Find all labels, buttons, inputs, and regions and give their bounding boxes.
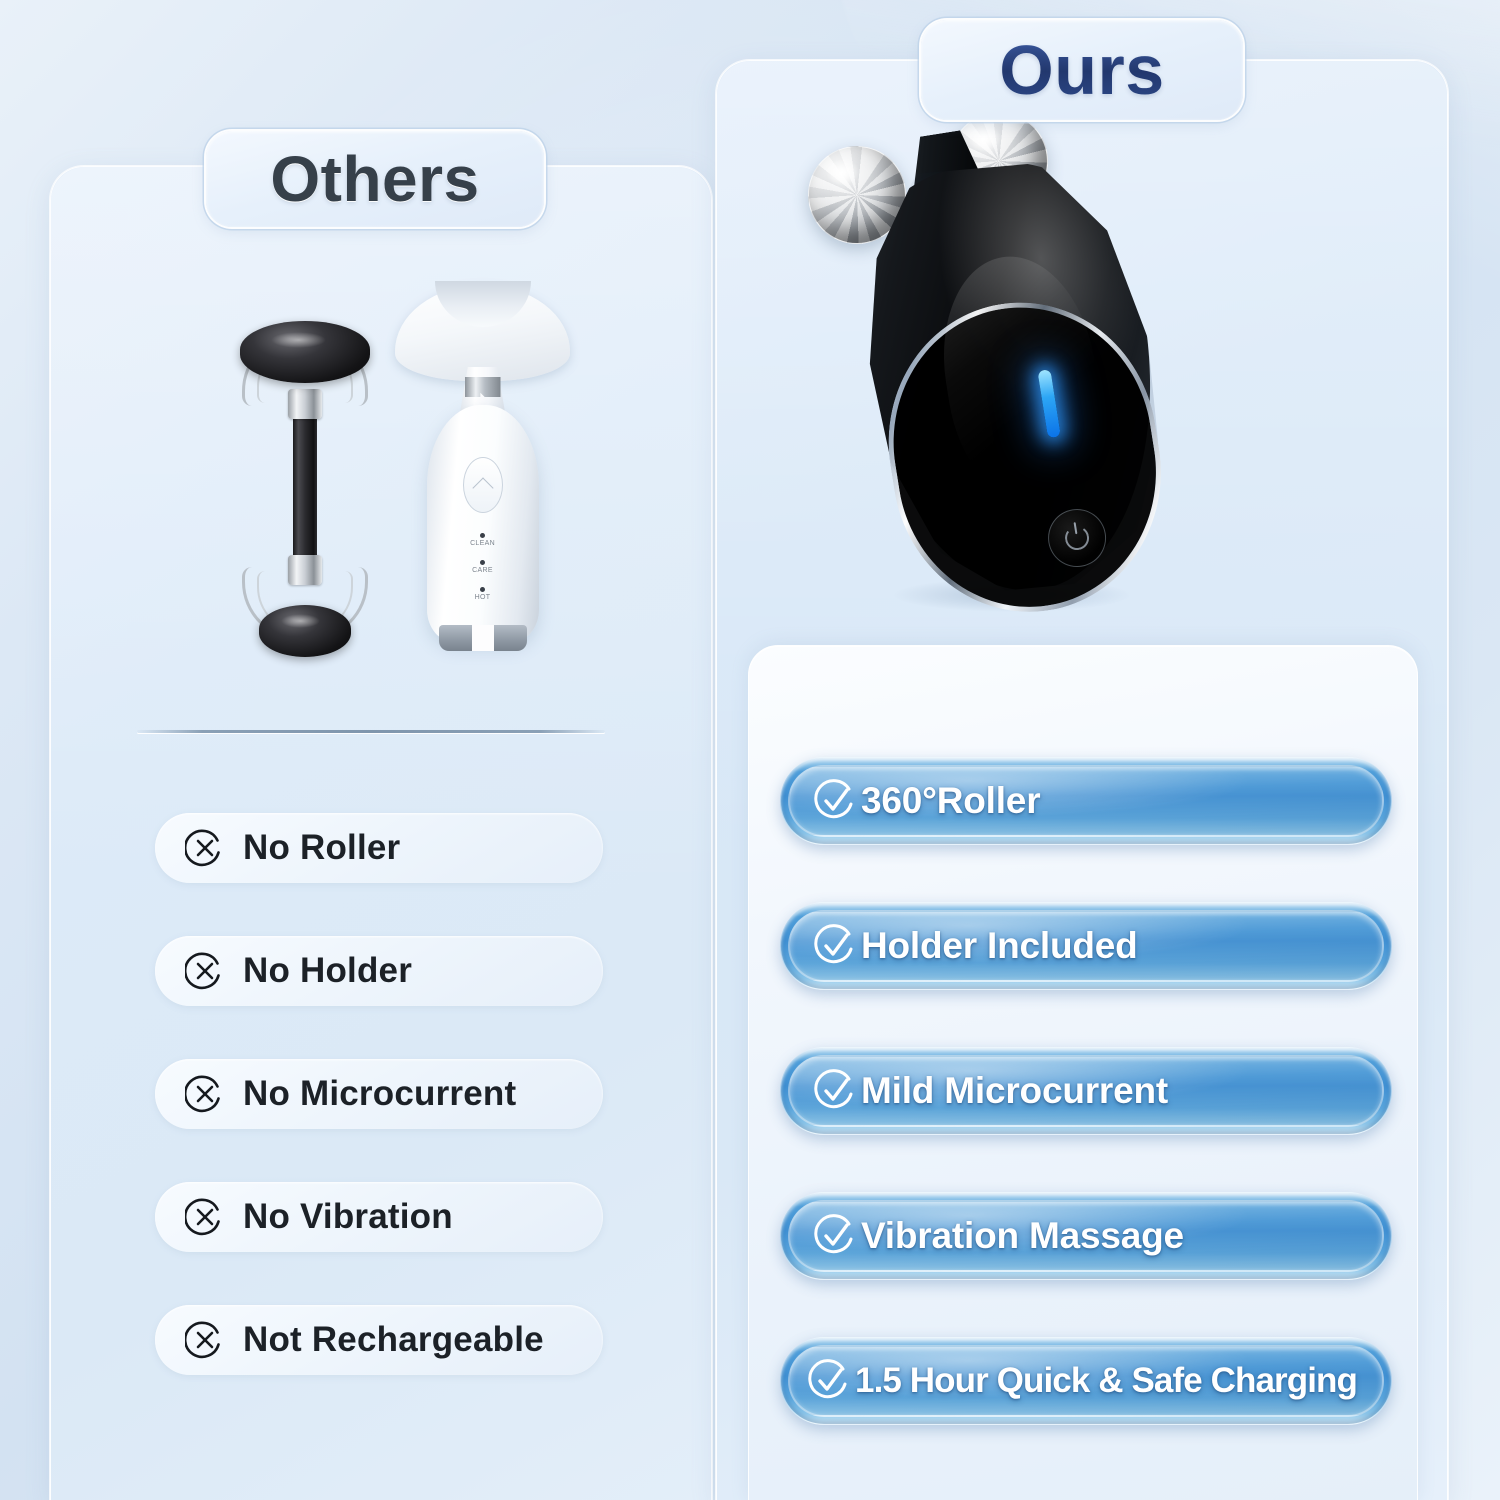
others-title: Others xyxy=(270,147,479,211)
roller-stone-highlight xyxy=(271,332,326,348)
ours-feature-label: 360°Roller xyxy=(861,780,1040,822)
others-divider xyxy=(137,730,605,733)
others-feature-item: Not Rechargeable xyxy=(155,1305,603,1375)
neck-device-head xyxy=(395,285,570,381)
mode-label: CARE xyxy=(472,567,493,574)
roller-stone-highlight-small xyxy=(281,614,320,628)
device-body xyxy=(830,142,1184,612)
others-feature-label: Not Rechargeable xyxy=(243,1320,544,1360)
roller-ferrule-top xyxy=(288,389,322,419)
mode-dot-icon xyxy=(480,587,485,592)
others-feature-label: No Microcurrent xyxy=(243,1074,516,1114)
roller-stone-large xyxy=(240,321,370,383)
x-circle-icon xyxy=(185,828,225,868)
power-icon xyxy=(1063,524,1090,551)
jade-roller-image xyxy=(225,305,385,655)
neck-device-mode: CARE xyxy=(454,560,512,574)
ours-product-image xyxy=(800,110,1280,650)
pill-content: 1.5 Hour Quick & Safe Charging xyxy=(787,1359,1357,1403)
ours-feature-label: 1.5 Hour Quick & Safe Charging xyxy=(855,1361,1357,1401)
mode-label: CLEAN xyxy=(470,540,495,547)
others-feature-item: No Holder xyxy=(155,936,603,1006)
mode-dot-icon xyxy=(480,560,485,565)
others-feature-label: No Holder xyxy=(243,951,412,991)
ours-feature-list: 360°Roller Holder Included xyxy=(780,757,1392,1482)
roller-ferrule-bottom xyxy=(288,555,322,585)
ours-feature-label: Vibration Massage xyxy=(861,1215,1184,1257)
neck-device-power-button xyxy=(463,457,503,513)
ours-feature-item: Mild Microcurrent xyxy=(780,1047,1392,1135)
ours-feature-item: Holder Included xyxy=(780,902,1392,990)
pill-content: Mild Microcurrent xyxy=(787,1069,1168,1113)
neck-device-body: CLEAN CARE HOT xyxy=(427,405,539,643)
check-circle-icon xyxy=(807,1359,851,1403)
mode-label: HOT xyxy=(475,594,491,601)
others-feature-label: No Vibration xyxy=(243,1197,453,1237)
neck-device-metal-plate xyxy=(465,377,501,397)
ours-feature-item: Vibration Massage xyxy=(780,1192,1392,1280)
pill-content: Holder Included xyxy=(787,924,1138,968)
neck-device-head-notch xyxy=(435,281,531,327)
ours-title-badge: Ours xyxy=(921,20,1243,120)
comparison-infographic: Others xyxy=(0,0,1500,1500)
check-circle-icon xyxy=(813,1069,857,1113)
others-feature-list: No Roller No Holder No Microcurrent xyxy=(155,813,603,1428)
pill-content: Vibration Massage xyxy=(787,1214,1184,1258)
neck-device-mode: CLEAN xyxy=(454,533,512,547)
neck-device-mode-labels: CLEAN CARE HOT xyxy=(454,533,512,614)
neck-device-image: CLEAN CARE HOT xyxy=(395,285,570,665)
x-circle-icon xyxy=(185,1320,225,1360)
mode-dot-icon xyxy=(480,533,485,538)
roller-handle xyxy=(293,401,317,571)
others-feature-item: No Roller xyxy=(155,813,603,883)
x-circle-icon xyxy=(185,1197,225,1237)
check-circle-icon xyxy=(813,1214,857,1258)
others-feature-item: No Microcurrent xyxy=(155,1059,603,1129)
neck-device-base xyxy=(439,625,527,651)
check-circle-icon xyxy=(813,924,857,968)
roller-stone-small xyxy=(259,605,351,657)
others-feature-item: No Vibration xyxy=(155,1182,603,1252)
pill-content: 360°Roller xyxy=(787,779,1040,823)
others-title-badge: Others xyxy=(206,131,544,227)
others-product-images: CLEAN CARE HOT xyxy=(50,260,710,690)
ours-feature-item: 1.5 Hour Quick & Safe Charging xyxy=(780,1337,1392,1425)
x-circle-icon xyxy=(185,1074,225,1114)
neck-device-mode: HOT xyxy=(454,587,512,601)
check-circle-icon xyxy=(813,779,857,823)
x-circle-icon xyxy=(185,951,225,991)
ours-title: Ours xyxy=(999,35,1164,105)
ours-feature-label: Mild Microcurrent xyxy=(861,1070,1168,1112)
ours-feature-item: 360°Roller xyxy=(780,757,1392,845)
others-feature-label: No Roller xyxy=(243,828,400,868)
ours-feature-label: Holder Included xyxy=(861,925,1138,967)
